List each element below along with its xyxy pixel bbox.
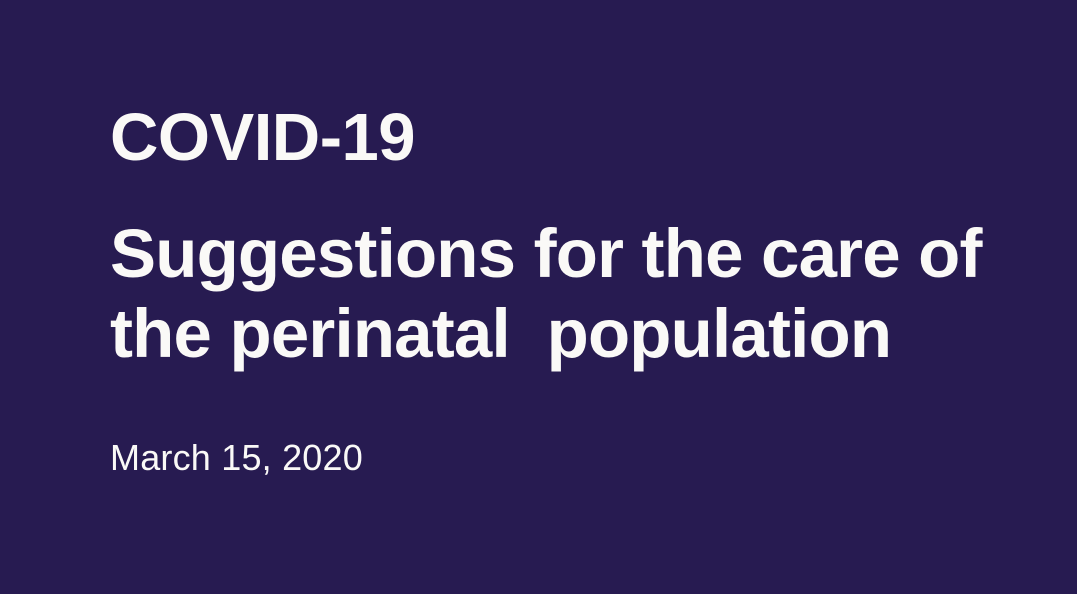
slide-content-block: COVID-19 Suggestions for the care of the… — [110, 0, 1010, 594]
title-slide: COVID-19 Suggestions for the care of the… — [0, 0, 1077, 594]
page-bottom-margin — [0, 594, 1077, 611]
slide-title: Suggestions for the care of the perinata… — [110, 214, 990, 374]
slide-date: March 15, 2020 — [110, 440, 363, 476]
slide-kicker: COVID-19 — [110, 104, 415, 171]
